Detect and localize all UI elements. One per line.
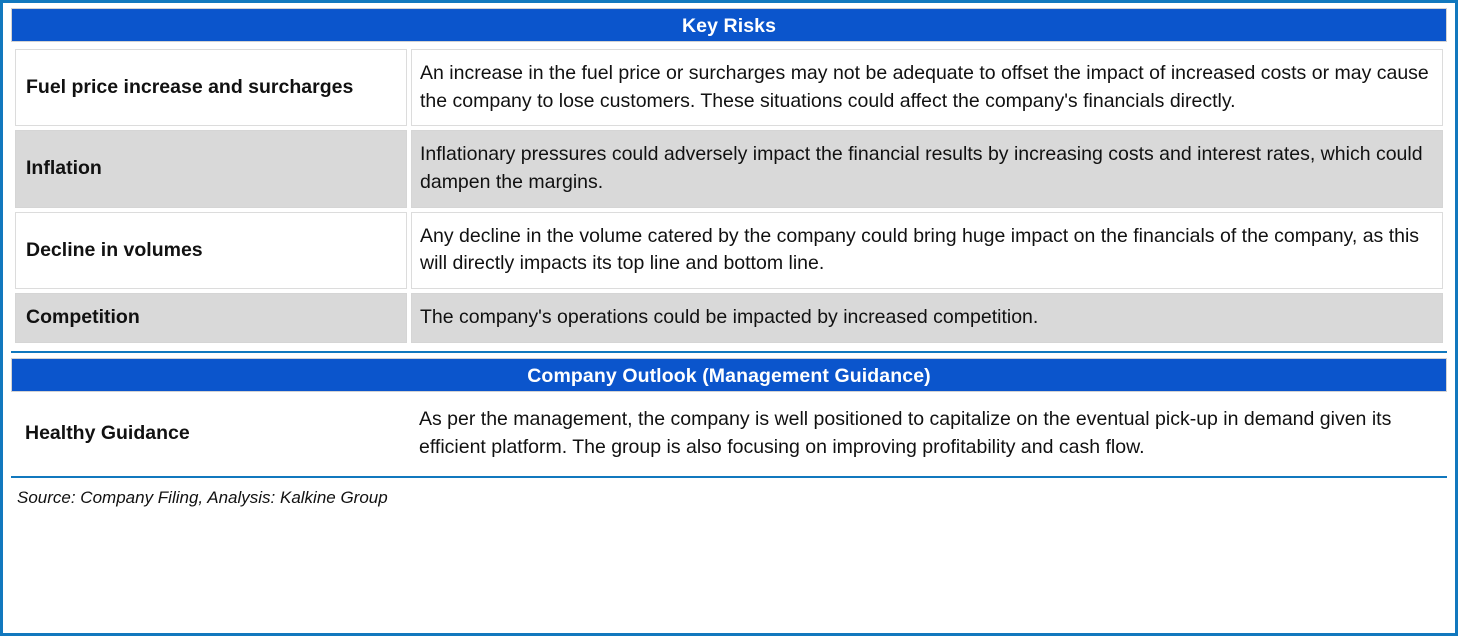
outlook-description: As per the management, the company is we… bbox=[411, 396, 1443, 471]
section-header-key-risks: Key Risks bbox=[11, 8, 1447, 42]
company-outlook-table: Healthy Guidance As per the management, … bbox=[11, 394, 1447, 473]
table-row: Healthy Guidance As per the management, … bbox=[15, 396, 1443, 471]
report-table-figure: Key Risks Fuel price increase and surcha… bbox=[0, 0, 1458, 636]
risk-description: Any decline in the volume catered by the… bbox=[411, 212, 1443, 289]
outlook-label: Healthy Guidance bbox=[15, 396, 407, 471]
table-row: Competition The company's operations cou… bbox=[15, 293, 1443, 343]
risk-label: Competition bbox=[15, 293, 407, 343]
risk-label: Inflation bbox=[15, 130, 407, 207]
table-row: Decline in volumes Any decline in the vo… bbox=[15, 212, 1443, 289]
table-row: Inflation Inflationary pressures could a… bbox=[15, 130, 1443, 207]
risk-description: The company's operations could be impact… bbox=[411, 293, 1443, 343]
section-header-company-outlook: Company Outlook (Management Guidance) bbox=[11, 358, 1447, 392]
key-risks-table: Fuel price increase and surcharges An in… bbox=[11, 45, 1447, 347]
risk-label: Fuel price increase and surcharges bbox=[15, 49, 407, 126]
source-note: Source: Company Filing, Analysis: Kalkin… bbox=[11, 482, 1447, 508]
risk-description: An increase in the fuel price or surchar… bbox=[411, 49, 1443, 126]
table-row: Fuel price increase and surcharges An in… bbox=[15, 49, 1443, 126]
footer-divider bbox=[11, 476, 1447, 478]
risk-label: Decline in volumes bbox=[15, 212, 407, 289]
risk-description: Inflationary pressures could adversely i… bbox=[411, 130, 1443, 207]
section-divider bbox=[11, 351, 1447, 353]
